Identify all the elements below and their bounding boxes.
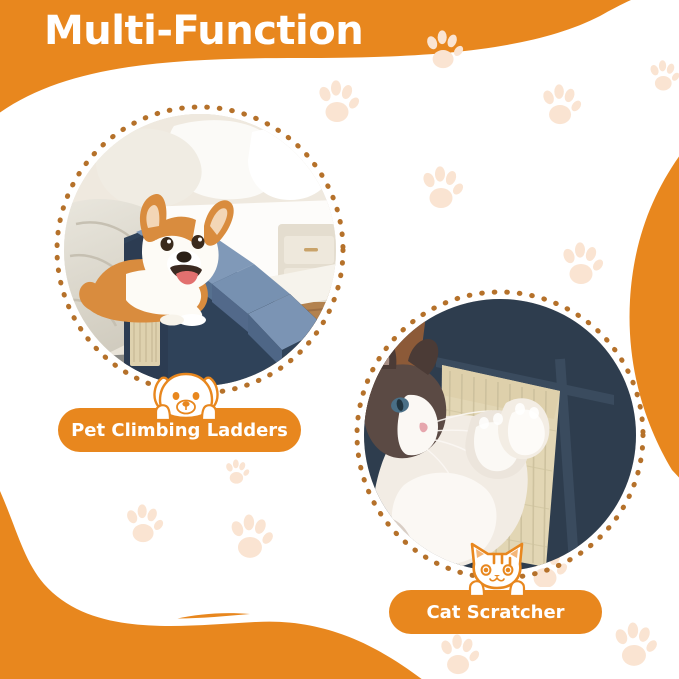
feature-label-cat-scratcher[interactable]: Cat Scratcher — [389, 590, 602, 634]
feature-photo-pet-climbing-ladders — [50, 100, 350, 400]
feature-label-pet-climbing-ladders[interactable]: Pet Climbing Ladders — [58, 408, 301, 452]
photo-dog-on-bed-with-stairs — [64, 114, 336, 386]
product-feature-poster: Multi-Function — [0, 0, 679, 679]
feature-photo-cat-scratcher — [350, 285, 650, 585]
page-title: Multi-Function — [44, 8, 363, 54]
photo-cat-scratching-panel — [364, 299, 636, 571]
